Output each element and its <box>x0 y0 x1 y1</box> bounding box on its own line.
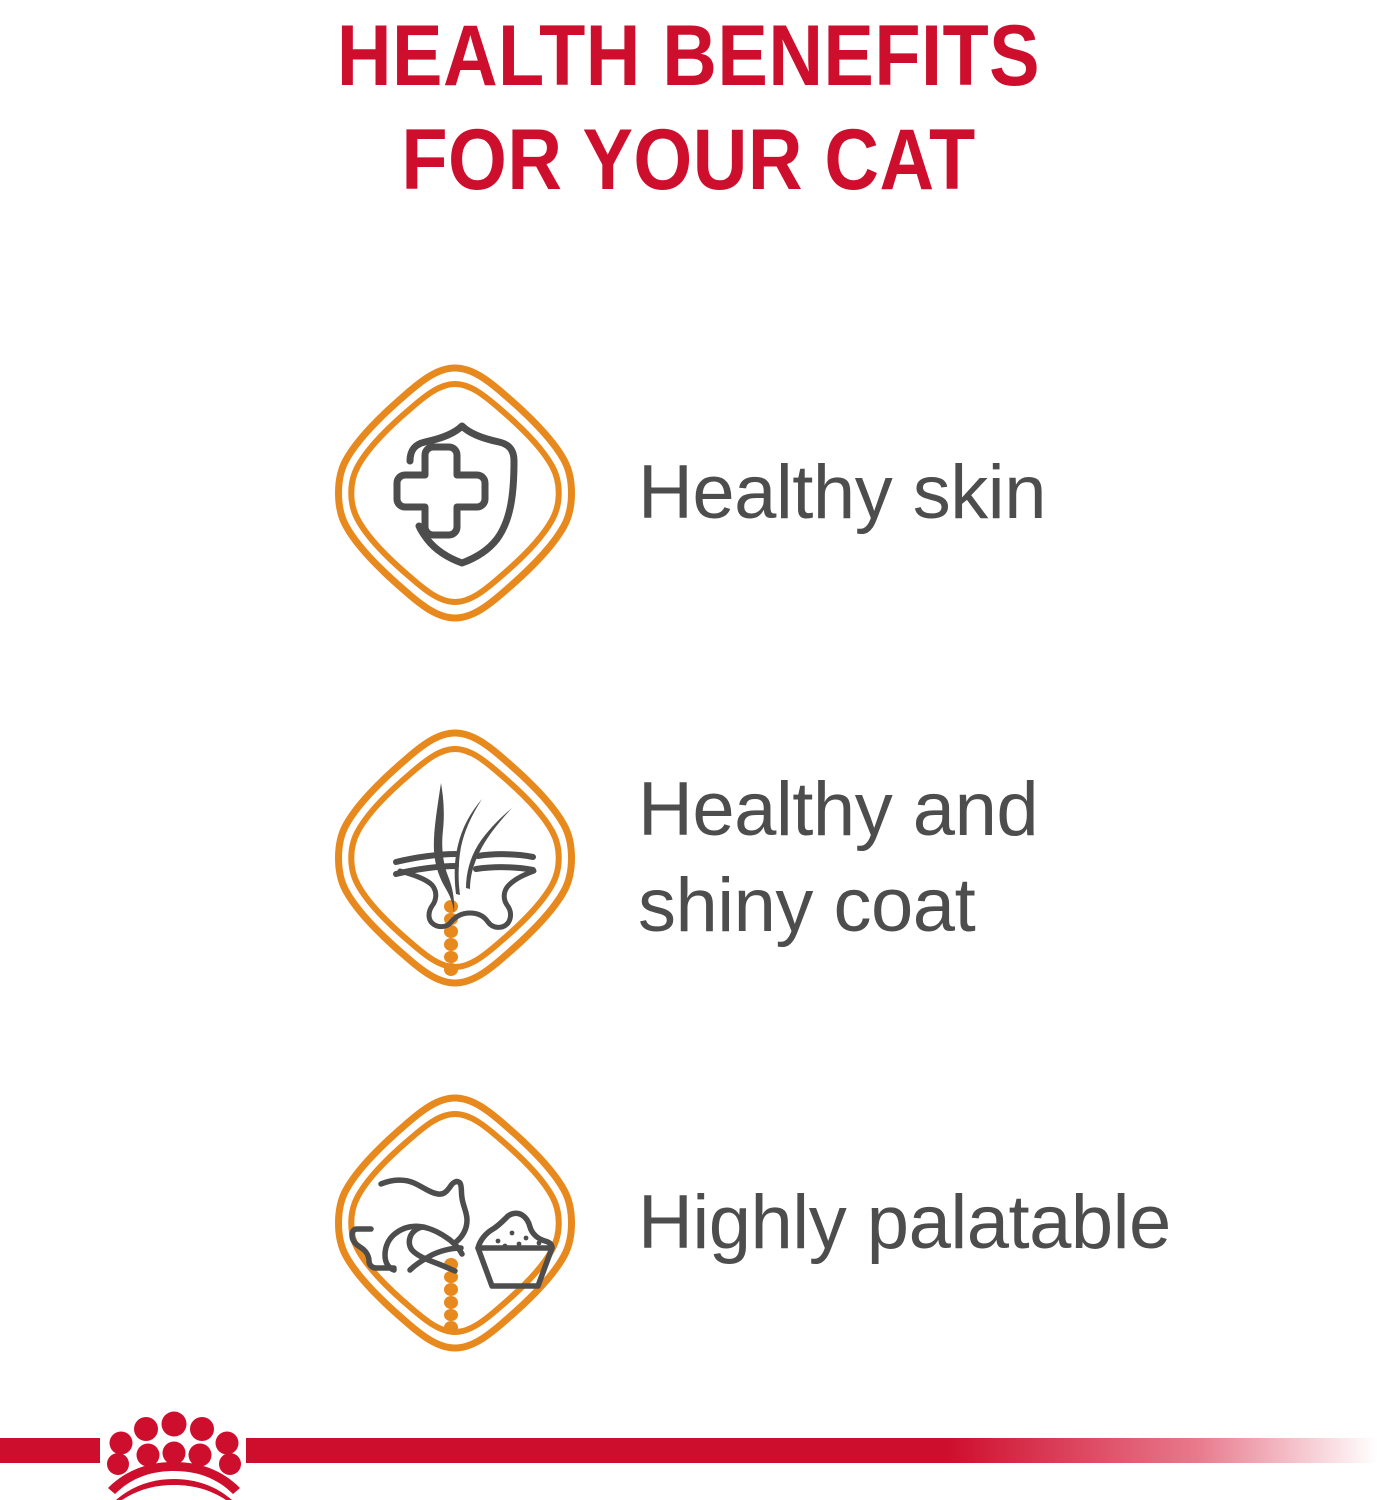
benefit-badge-2 <box>320 723 590 993</box>
cat-eating-bowl-icon <box>352 1180 552 1286</box>
footer-bar-left <box>0 1438 100 1463</box>
benefit-label-1: Healthy skin <box>638 445 1046 541</box>
diamond-frame-outer <box>339 1098 572 1348</box>
benefit-item-highly-palatable: Highly palatable <box>0 1040 1377 1405</box>
page-title-line-1: HEALTH BENEFITS <box>83 4 1295 108</box>
page-title-line-2: FOR YOUR CAT <box>83 108 1295 212</box>
benefit-badge-3 <box>320 1088 590 1358</box>
benefit-label-3: Highly palatable <box>638 1175 1171 1271</box>
benefit-badge-1 <box>320 358 590 628</box>
footer <box>0 1400 1377 1500</box>
diamond-frame-outer <box>339 368 572 618</box>
diamond-frame-outer <box>339 733 572 983</box>
benefit-item-shiny-coat: Healthy and shiny coat <box>0 675 1377 1040</box>
benefits-list: Healthy skin <box>0 310 1377 1405</box>
shield-cross-icon <box>397 426 514 563</box>
page-title: HEALTH BENEFITS FOR YOUR CAT <box>0 0 1377 212</box>
health-benefits-infographic: HEALTH BENEFITS FOR YOUR CAT <box>0 0 1377 1500</box>
royal-canin-crown-logo <box>96 1408 252 1500</box>
benefit-label-2: Healthy and shiny coat <box>638 762 1038 954</box>
benefit-item-healthy-skin: Healthy skin <box>0 310 1377 675</box>
hair-follicle-icon <box>396 783 534 927</box>
footer-bar-right <box>246 1438 1377 1463</box>
